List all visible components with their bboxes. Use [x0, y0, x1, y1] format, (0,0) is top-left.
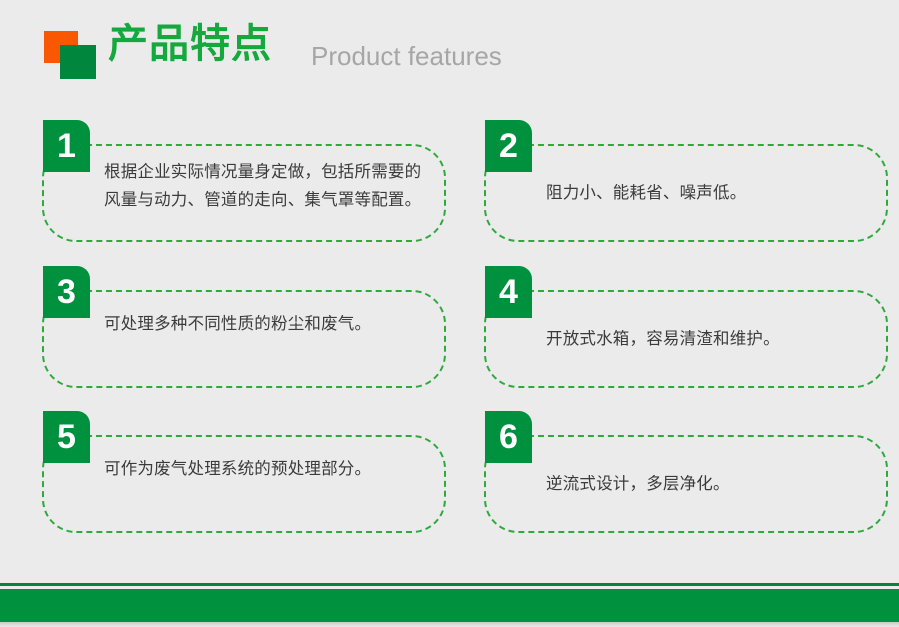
page-header: 产品特点 Product features — [0, 0, 899, 105]
feature-card: 2 阻力小、能耗省、噪声低。 — [484, 144, 888, 242]
feature-card: 4 开放式水箱，容易清渣和维护。 — [484, 290, 888, 388]
footer-rule — [0, 583, 899, 586]
page-subtitle: Product features — [311, 43, 502, 69]
feature-number-badge: 3 — [43, 266, 90, 318]
feature-card: 6 逆流式设计，多层净化。 — [484, 435, 888, 533]
page-title: 产品特点 — [108, 24, 272, 64]
feature-card: 5 可作为废气处理系统的预处理部分。 — [42, 435, 446, 533]
feature-card: 1 根据企业实际情况量身定做，包括所需要的风量与动力、管道的走向、集气罩等配置。 — [42, 144, 446, 242]
feature-text: 可处理多种不同性质的粉尘和废气。 — [104, 290, 428, 388]
logo-mark — [44, 31, 96, 79]
feature-number-badge: 2 — [485, 120, 532, 172]
footer-bar — [0, 589, 899, 622]
feature-card-grid: 1 根据企业实际情况量身定做，包括所需要的风量与动力、管道的走向、集气罩等配置。… — [0, 118, 899, 548]
feature-text: 根据企业实际情况量身定做，包括所需要的风量与动力、管道的走向、集气罩等配置。 — [104, 144, 428, 242]
feature-card: 3 可处理多种不同性质的粉尘和废气。 — [42, 290, 446, 388]
feature-text: 阻力小、能耗省、噪声低。 — [546, 144, 870, 242]
green-square-icon — [60, 45, 96, 79]
feature-number-badge: 5 — [43, 411, 90, 463]
feature-text: 可作为废气处理系统的预处理部分。 — [104, 435, 428, 533]
feature-text: 逆流式设计，多层净化。 — [546, 435, 870, 533]
footer-shadow — [0, 622, 899, 627]
feature-number-badge: 4 — [485, 266, 532, 318]
feature-text: 开放式水箱，容易清渣和维护。 — [546, 290, 870, 388]
feature-number-badge: 6 — [485, 411, 532, 463]
feature-number-badge: 1 — [43, 120, 90, 172]
